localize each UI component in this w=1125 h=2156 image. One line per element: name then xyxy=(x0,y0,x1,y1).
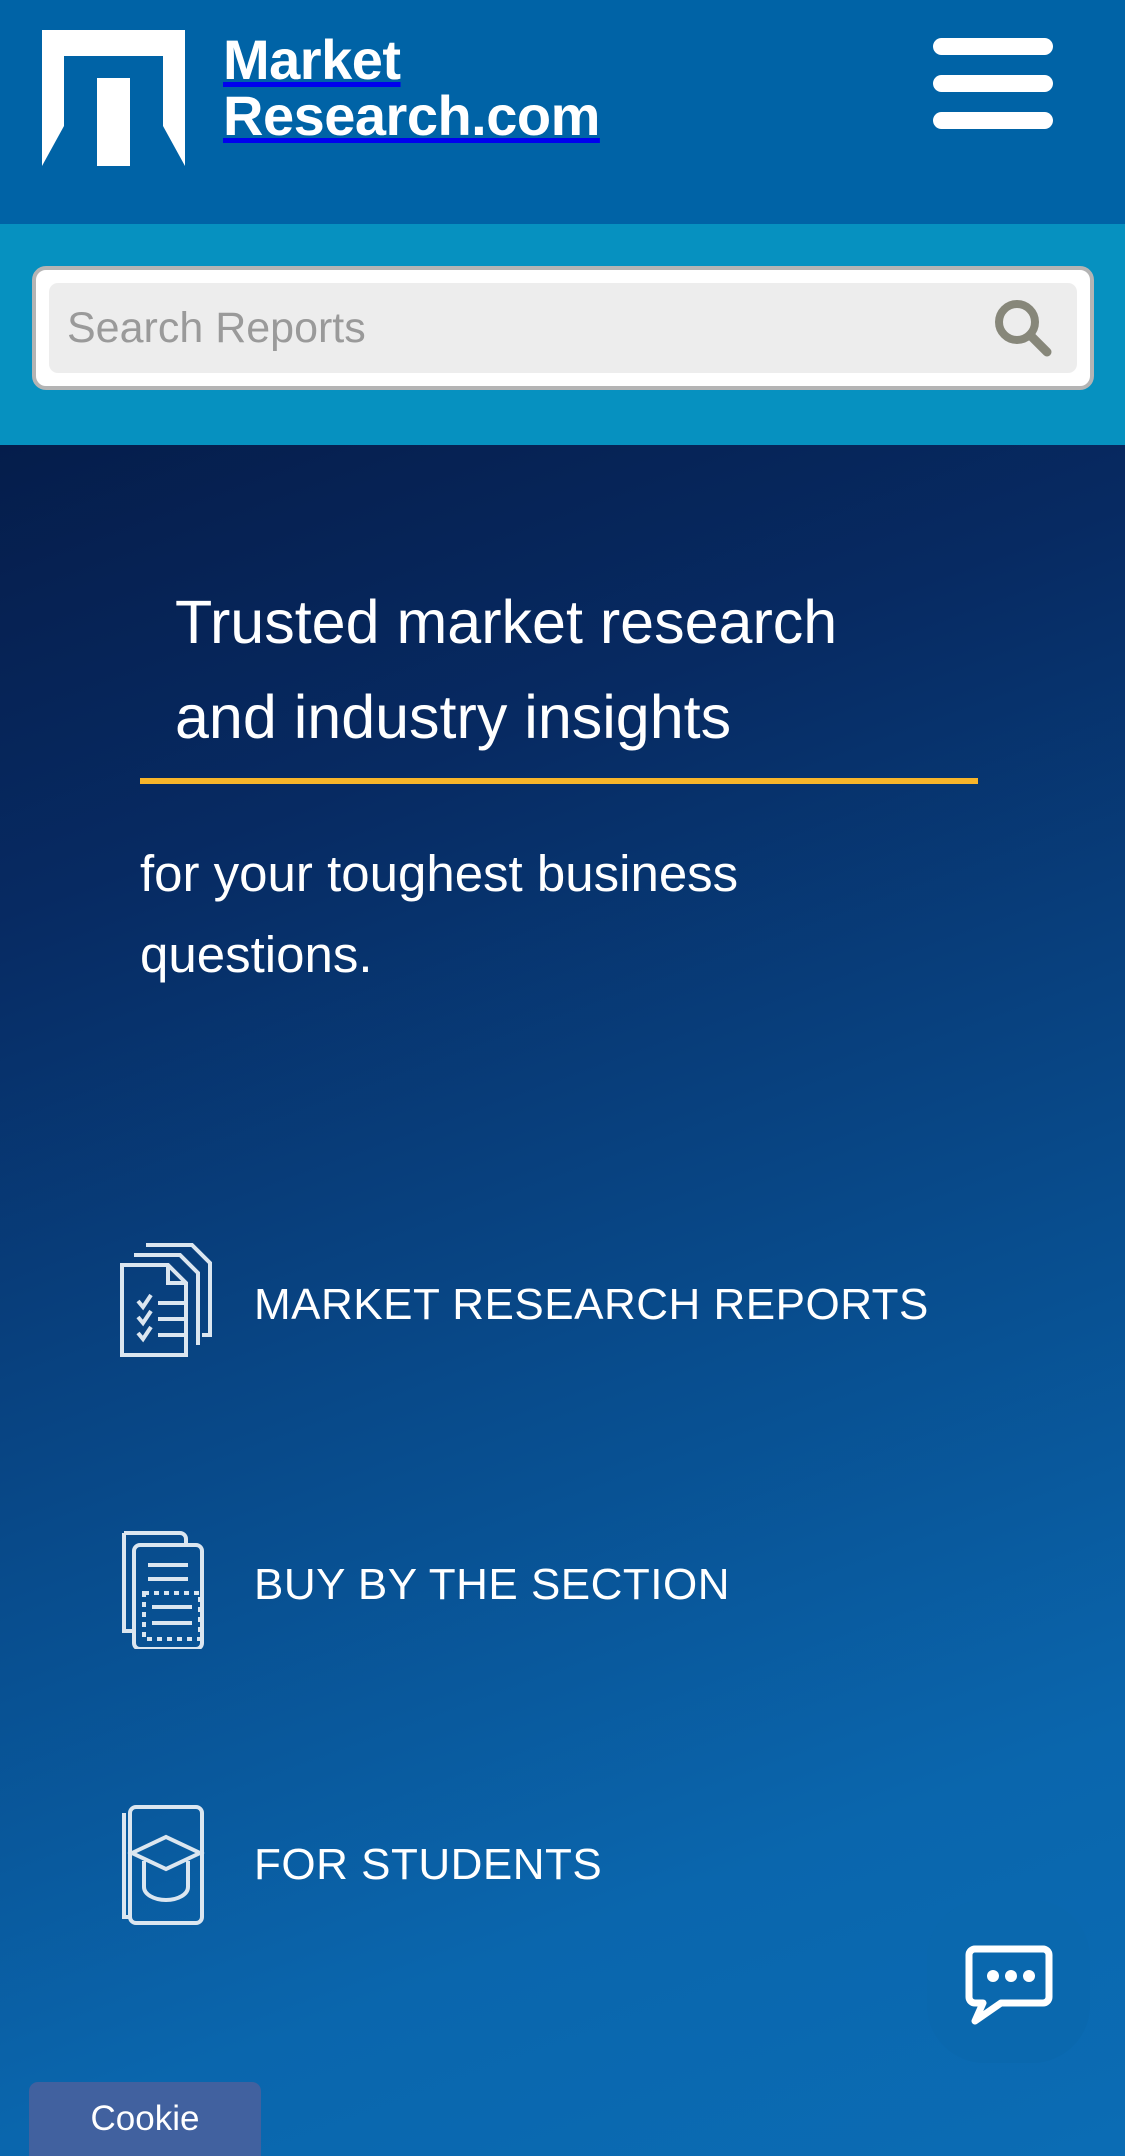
hamburger-bar-2 xyxy=(933,75,1053,92)
search-band xyxy=(0,224,1125,445)
site-logo-link[interactable]: MarketResearch.com xyxy=(42,30,600,166)
site-header: MarketResearch.com xyxy=(0,0,1125,224)
nav-link-buy-by-the-section[interactable]: BUY BY THE SECTION xyxy=(0,1515,1125,1655)
nav-link-market-research-reports[interactable]: MARKET RESEARCH REPORTS xyxy=(0,1235,1125,1375)
marketresearch-m-logo-icon xyxy=(42,30,185,166)
search-box xyxy=(32,266,1094,390)
documents-checklist-icon xyxy=(118,1241,236,1369)
hero-heading: Trusted market research and industry ins… xyxy=(175,575,975,765)
graduation-cap-book-icon xyxy=(118,1801,236,1929)
cookie-settings-button[interactable]: Cookie Settings xyxy=(29,2082,261,2156)
nav-link-label: BUY BY THE SECTION xyxy=(254,1560,730,1610)
nav-link-label: MARKET RESEARCH REPORTS xyxy=(254,1280,929,1330)
nav-link-label: FOR STUDENTS xyxy=(254,1840,602,1890)
hero-divider-rule xyxy=(140,778,978,784)
chat-widget-button[interactable] xyxy=(927,1900,1090,2063)
search-field-wrapper xyxy=(49,283,1077,373)
site-logo-wordmark: MarketResearch.com xyxy=(223,32,600,144)
hamburger-bar-1 xyxy=(933,38,1053,55)
document-section-select-icon xyxy=(118,1521,236,1649)
page-root: MarketResearch.com xyxy=(0,0,1125,2156)
hamburger-bar-3 xyxy=(933,112,1053,129)
hero-section: Trusted market research and industry ins… xyxy=(0,445,1125,2156)
search-submit-button[interactable] xyxy=(969,283,1077,373)
hero-subheading: for your toughest business questions. xyxy=(140,833,930,995)
hamburger-menu-icon[interactable] xyxy=(933,38,1053,128)
chat-bubble-dots-icon xyxy=(963,1939,1055,2025)
search-icon xyxy=(992,297,1054,359)
search-input[interactable] xyxy=(49,283,969,373)
